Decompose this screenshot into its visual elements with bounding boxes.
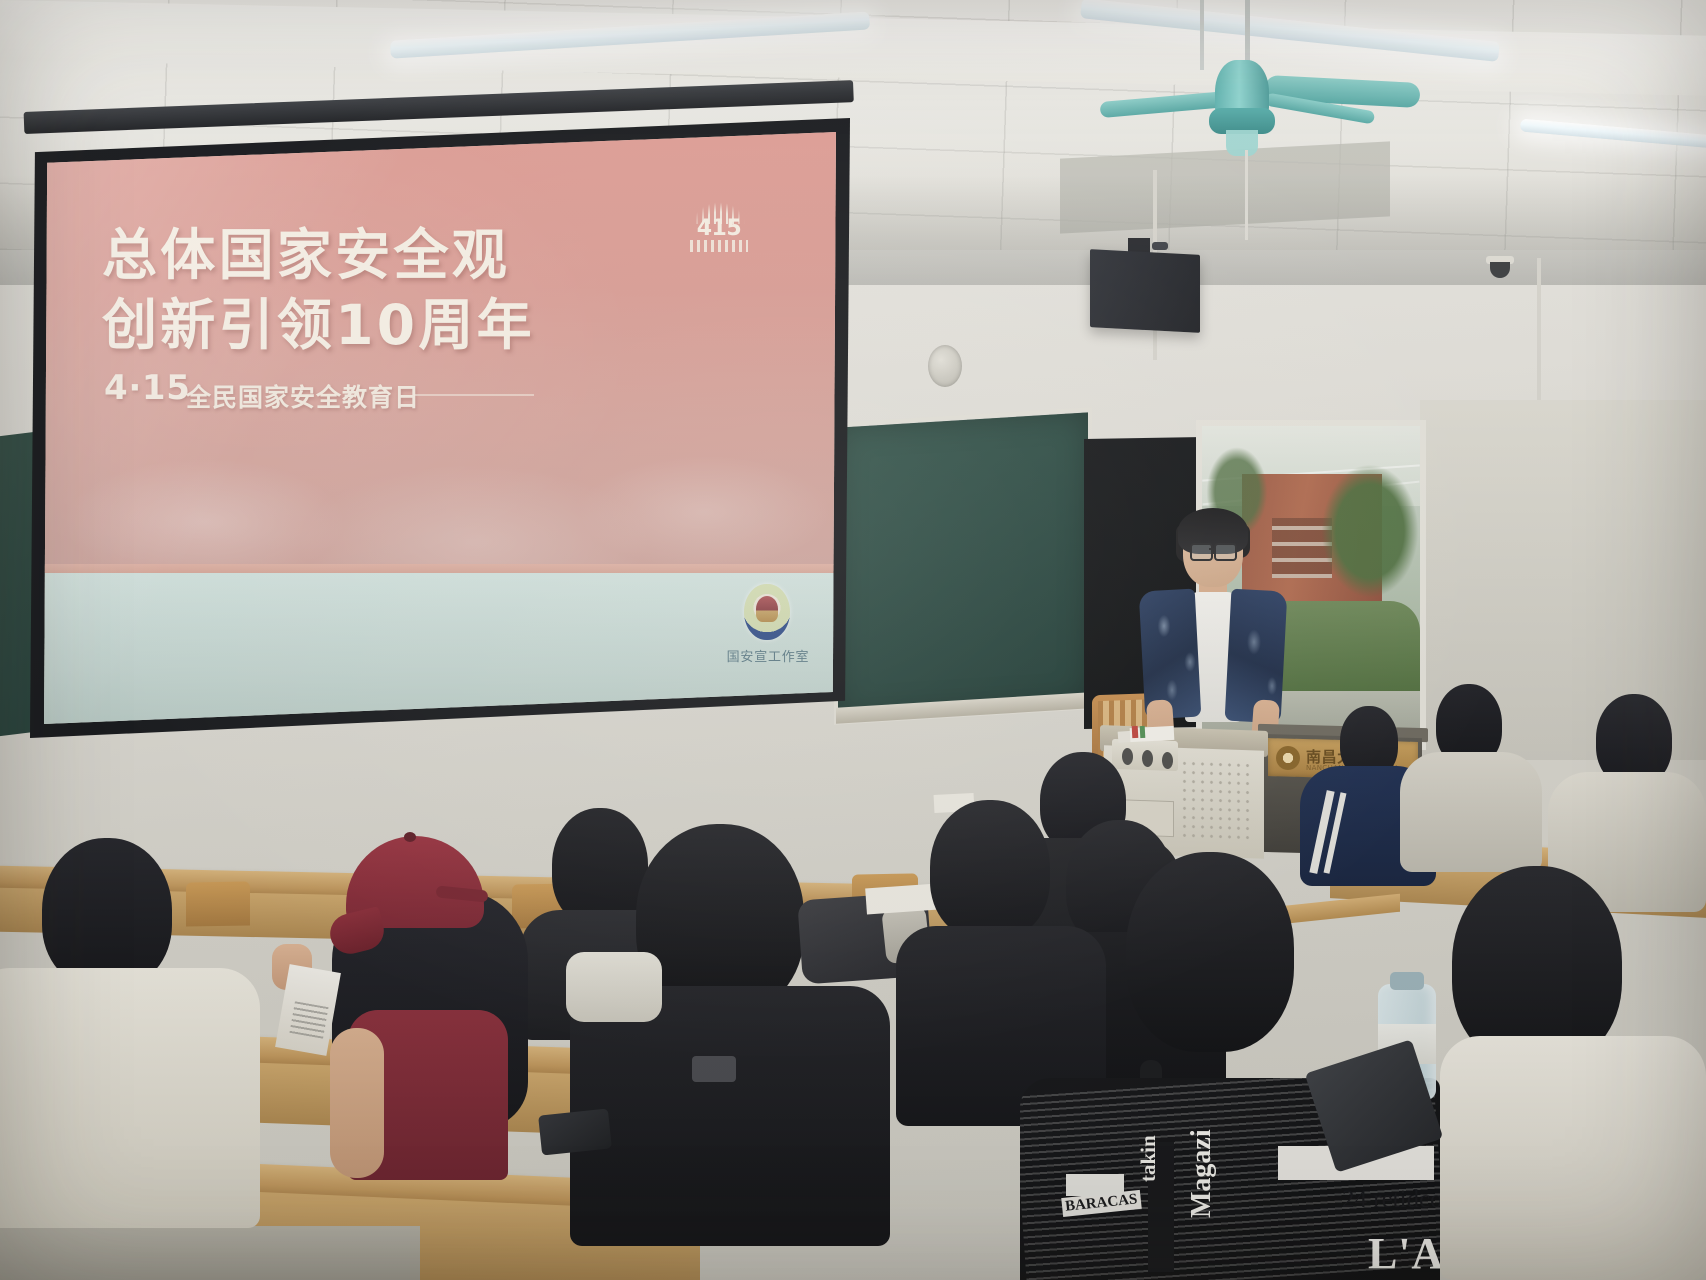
slide-subtitle: 全民国家安全教育日 [186, 378, 420, 414]
slide-headline-line2: 创新引领10周年 [102, 280, 535, 360]
415-logo: 415 [684, 194, 754, 258]
paper-sheet [865, 884, 939, 915]
ceiling-hanger-rod [1200, 0, 1204, 70]
student-torso [0, 968, 260, 1228]
slide-date-number: 4·15 [104, 368, 191, 408]
student-head [930, 800, 1050, 940]
speaker-arm [1152, 242, 1168, 250]
student-head [42, 838, 172, 988]
university-seal-icon [1276, 746, 1300, 770]
fan-rod [1245, 0, 1250, 66]
emblem-caption: 国安宣工作室 [722, 646, 814, 665]
bag-text-takin: takin [1136, 1135, 1161, 1182]
student-head [552, 808, 648, 926]
presenter-jacket-left [1139, 589, 1202, 720]
marker-pen [1132, 726, 1139, 738]
bottle-cap-icon [1390, 972, 1424, 990]
slide-underline-rule [414, 394, 534, 396]
marker-pen [1140, 726, 1146, 738]
wall-speaker [1090, 249, 1200, 333]
smartphone[interactable] [538, 1108, 612, 1155]
projector-screen[interactable]: 总体国家安全观 创新引领10周年 4·15 全民国家安全教育日 415 国安宣工… [44, 132, 836, 724]
lecture-hall-photo: 总体国家安全观 创新引领10周年 4·15 全民国家安全教育日 415 国安宣工… [0, 0, 1706, 1280]
student-torso [570, 986, 890, 1246]
student-collar [566, 952, 662, 1022]
podium-speaker-grill [1180, 759, 1254, 842]
blackboard-frame [834, 407, 1092, 725]
emblem-core [756, 596, 778, 622]
glasses-bridge [1209, 548, 1215, 550]
ceiling-fan-cap [1226, 130, 1258, 156]
slide-divider [44, 564, 836, 573]
chair-back-rest [186, 881, 250, 926]
415-logo-caption-bar [690, 240, 748, 252]
podium-knob[interactable] [1122, 748, 1133, 765]
student-shoulder-skin [330, 1028, 384, 1178]
cap-button [404, 832, 416, 842]
wall-conduit [1245, 150, 1248, 240]
tree [1310, 436, 1420, 626]
wall-conduit [1537, 258, 1541, 408]
student-torso [1400, 752, 1542, 872]
student-torso [1440, 1036, 1706, 1280]
glasses-icon [1214, 543, 1237, 561]
shirt-graphic [692, 1056, 736, 1082]
student-head [1126, 852, 1294, 1052]
floor-tile [0, 1226, 420, 1280]
wall-fixture [928, 345, 962, 387]
415-logo-number: 415 [694, 216, 744, 241]
podium-knob[interactable] [1162, 752, 1173, 769]
glasses-icon [1190, 543, 1213, 561]
bag-text-magazi: Magazi [1186, 1129, 1218, 1218]
slide-headline-line1: 总体国家安全观 [102, 210, 510, 290]
paper-handout-print [289, 1001, 328, 1038]
podium-knob[interactable] [1142, 750, 1153, 767]
slide-mountain-mist-graphic [44, 382, 836, 582]
